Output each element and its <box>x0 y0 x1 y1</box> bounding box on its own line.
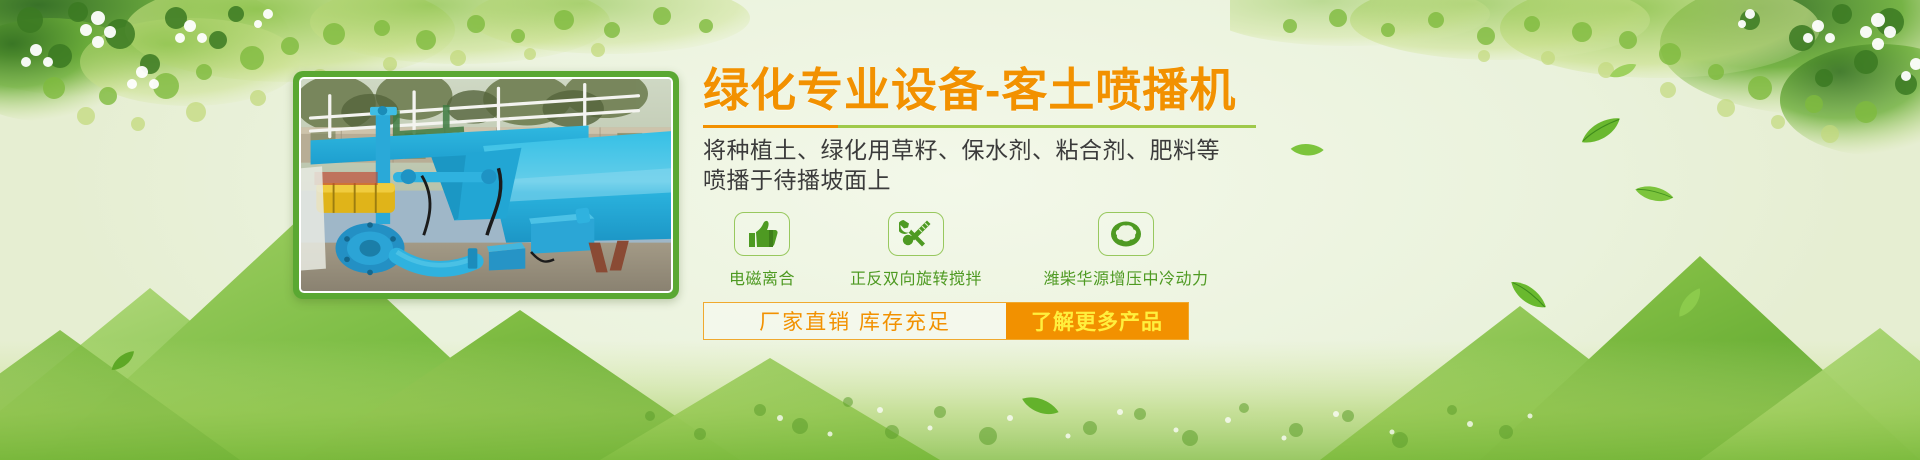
learn-more-button[interactable]: 了解更多产品 <box>1006 303 1188 339</box>
feature-item-3: 潍柴华源增压中冷动力 <box>1011 212 1241 289</box>
product-photo-frame <box>293 71 679 299</box>
feature-list: 电磁离合 <box>703 212 1403 289</box>
title-divider <box>703 125 1256 128</box>
gear-icon <box>1098 212 1154 256</box>
subtitle-block: 将种植土、绿化用草籽、保水剂、粘合剂、肥料等 喷播于待播坡面上 <box>703 135 1403 196</box>
subtitle-line-2: 喷播于待播坡面上 <box>703 165 1403 195</box>
feature-item-2: 正反双向旋转搅拌 <box>821 212 1011 289</box>
feature-item-1: 电磁离合 <box>703 212 821 289</box>
feature-label-3: 潍柴华源增压中冷动力 <box>1011 265 1241 289</box>
cta-bar: 厂家直销 库存充足 了解更多产品 <box>703 302 1189 340</box>
feature-label-2: 正反双向旋转搅拌 <box>821 265 1011 289</box>
thumbs-up-icon <box>734 212 790 256</box>
promo-banner: 绿化专业设备-客土喷播机 将种植土、绿化用草籽、保水剂、粘合剂、肥料等 喷播于待… <box>0 0 1920 460</box>
grass-texture-band <box>0 340 1920 460</box>
tools-icon <box>888 212 944 256</box>
subtitle-line-1: 将种植土、绿化用草籽、保水剂、粘合剂、肥料等 <box>703 135 1403 165</box>
page-title: 绿化专业设备-客土喷播机 <box>703 66 1403 116</box>
cta-slogan: 厂家直销 库存充足 <box>704 303 1006 339</box>
product-photo <box>299 77 673 293</box>
hydroseeder-machine-illustration <box>301 79 671 291</box>
banner-content: 绿化专业设备-客土喷播机 将种植土、绿化用草籽、保水剂、粘合剂、肥料等 喷播于待… <box>703 66 1403 340</box>
feature-label-1: 电磁离合 <box>703 265 821 289</box>
